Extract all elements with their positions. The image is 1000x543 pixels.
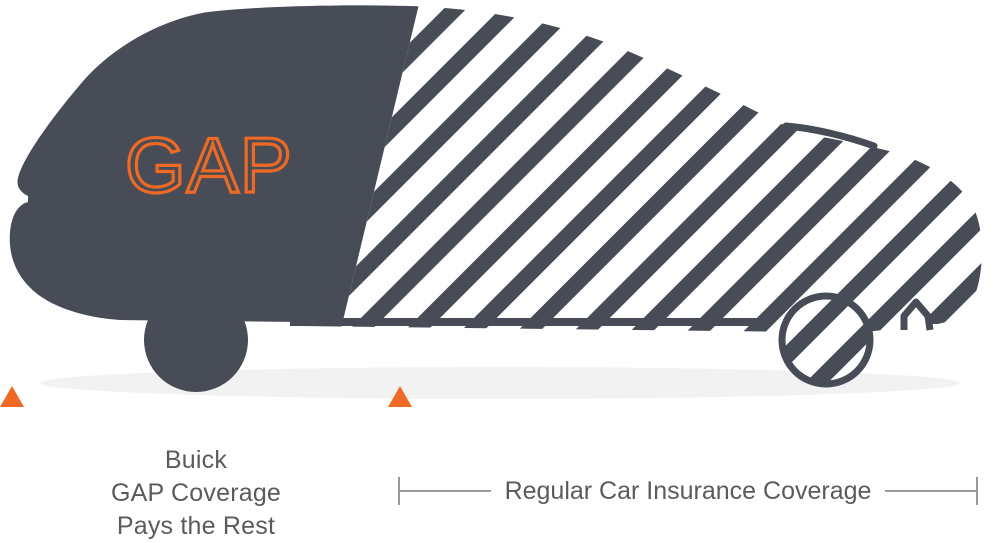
rocker-line xyxy=(290,318,760,326)
rear-wheel xyxy=(782,296,870,384)
insurance-coverage-label: Regular Car Insurance Coverage xyxy=(398,474,978,508)
gap-coverage-diagram: GAP Buick GAP Coverage Pays the Rest Reg… xyxy=(0,0,1000,541)
gap-start-marker xyxy=(0,386,24,407)
gap-coverage-label: Buick GAP Coverage Pays the Rest xyxy=(60,444,332,543)
insurance-label-text: Regular Car Insurance Coverage xyxy=(491,477,886,506)
gap-label-line3: Pays the Rest xyxy=(60,510,332,543)
gap-wordmark: GAP xyxy=(125,121,293,209)
gap-label-line2: GAP Coverage xyxy=(60,477,332,510)
gap-label-line1: Buick xyxy=(60,444,332,477)
front-wheel xyxy=(144,288,248,392)
